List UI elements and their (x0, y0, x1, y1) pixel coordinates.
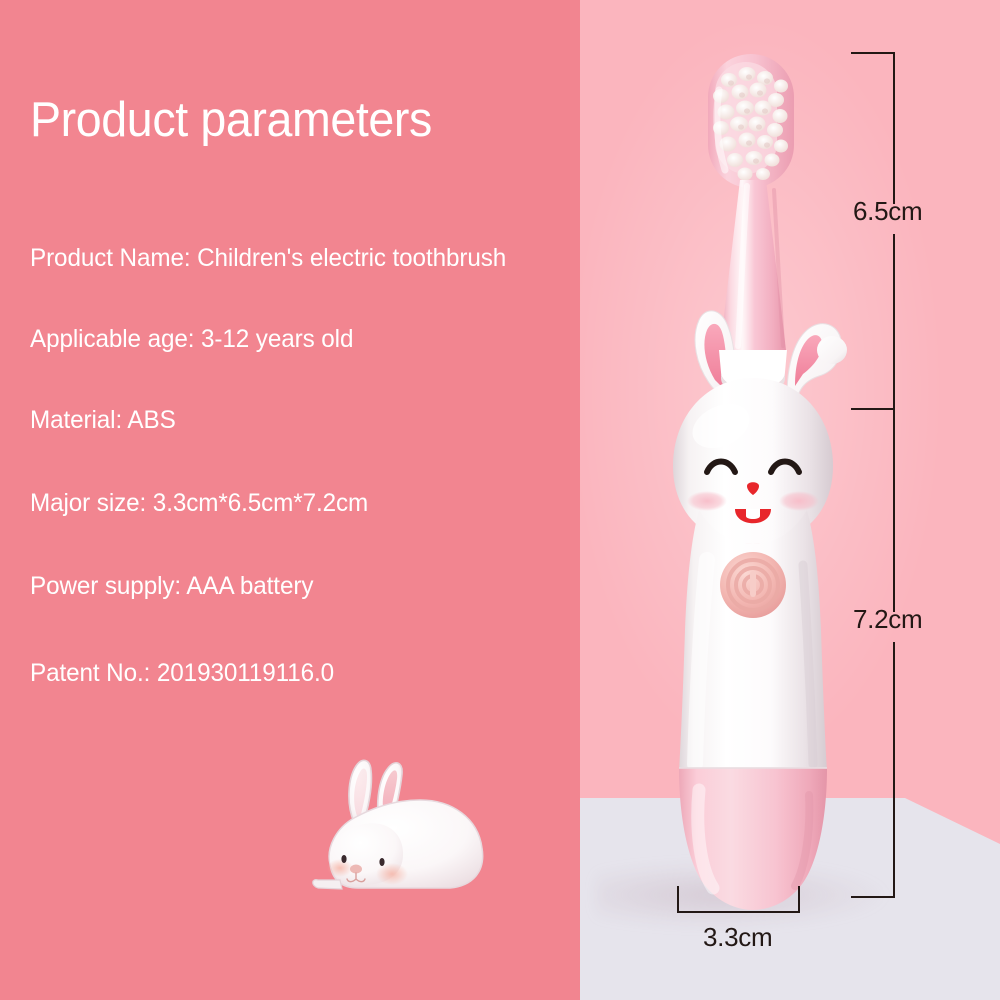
spec-major-size: Major size: 3.3cm*6.5cm*7.2cm (30, 489, 368, 518)
rabbit-ear-tip (817, 336, 847, 364)
dim-65-tick-top (851, 52, 895, 54)
rabbit-blush-left (327, 859, 353, 877)
dim-label-72cm: 7.2cm (853, 604, 922, 635)
rabbit-illustration (302, 752, 517, 912)
spec-product-name: Product Name: Children's electric toothb… (30, 244, 506, 273)
dim-65-line-lower (893, 234, 895, 410)
spec-material: Material: ABS (30, 406, 176, 435)
rabbit-foot (313, 880, 342, 889)
dim-33-tick-right (798, 886, 800, 912)
spec-power-supply: Power supply: AAA battery (30, 572, 313, 601)
dim-33-tick-left (677, 886, 679, 912)
dim-label-65cm: 6.5cm (853, 196, 922, 227)
dim-33-line (677, 911, 800, 913)
dim-65-tick-bottom (851, 408, 895, 410)
rabbit-eye-left (341, 855, 346, 863)
power-icon (750, 571, 756, 597)
rabbit-cheek-right (779, 491, 819, 511)
rabbit-ear-right (787, 324, 847, 400)
dim-72-tick-bottom (851, 896, 895, 898)
dim-label-33cm: 3.3cm (703, 922, 772, 953)
spec-patent-no: Patent No.: 201930119116.0 (30, 659, 334, 688)
dim-72-line-lower (893, 642, 895, 898)
spec-applicable-age: Applicable age: 3-12 years old (30, 325, 353, 354)
dim-65-line-upper (893, 52, 895, 204)
infographic-page: Product parameters Product Name: Childre… (0, 0, 1000, 1000)
rabbit-eye-right (379, 858, 384, 866)
power-button[interactable] (720, 552, 786, 618)
toothbrush-product (595, 20, 925, 920)
page-title: Product parameters (30, 92, 432, 148)
dim-72-line-upper (893, 410, 895, 612)
rabbit-tooth (746, 509, 760, 519)
rabbit-nose (350, 865, 362, 874)
rabbit-cheek-left (687, 491, 727, 511)
rabbit-blush-right (376, 863, 408, 885)
brush-head (708, 54, 794, 188)
